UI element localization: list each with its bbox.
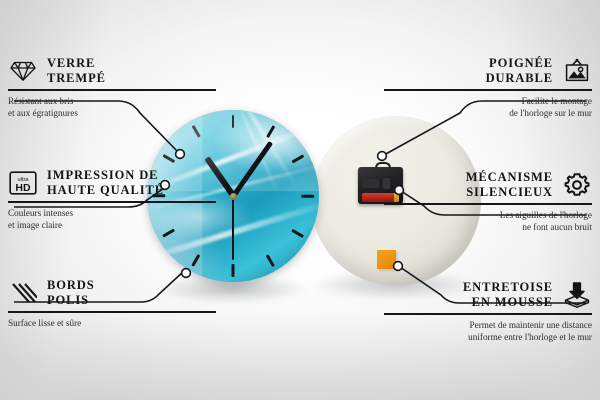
callout-title-line1: ENTRETOISE [463, 280, 553, 295]
callout-title: POIGNÉE DURABLE [486, 56, 553, 86]
callout-desc-line1: Résistant aux bris [8, 95, 216, 108]
callout-description: Permet de maintenir une distance uniform… [384, 319, 592, 344]
callout-title-line2: DURABLE [486, 71, 553, 86]
ultra-hd-icon: ultra HD [8, 168, 38, 198]
callout-description: Les aiguilles de l'horloge ne font aucun… [384, 209, 592, 234]
foam-spacer-icon [562, 280, 592, 310]
diamond-icon [8, 56, 38, 86]
callout-entretoise-en-mousse[interactable]: ENTRETOISE EN MOUSSE Permet de maintenir… [384, 280, 592, 344]
callout-description: Résistant aux bris et aux égratignures [8, 95, 216, 120]
callout-title: MÉCANISME SILENCIEUX [466, 170, 553, 200]
infographic-scene: VERRE TREMPÉ Résistant aux bris et aux é… [0, 0, 600, 400]
callout-title-line1: IMPRESSION DE [47, 168, 164, 183]
callout-header: VERRE TREMPÉ [8, 56, 216, 86]
callout-desc-line1: Les aiguilles de l'horloge [384, 209, 592, 222]
callout-title-line1: BORDS [47, 278, 95, 293]
callout-desc-line2: de l'horloge sur le mur [384, 107, 592, 120]
callout-description: Facilite le montage de l'horloge sur le … [384, 95, 592, 120]
callout-description: Couleurs intenses et image claire [8, 207, 216, 232]
picture-hanger-icon [562, 56, 592, 86]
callout-desc-line1: Facilite le montage [384, 95, 592, 108]
callout-title-line1: POIGNÉE [486, 56, 553, 71]
callout-bords-polis[interactable]: BORDS POLIS Surface lisse et sûre [8, 278, 216, 329]
mechanism-detail-left [363, 179, 379, 188]
svg-text:HD: HD [15, 182, 31, 194]
foam-spacer [377, 250, 396, 269]
callout-header: POIGNÉE DURABLE [384, 56, 592, 86]
callout-title-line2: TREMPÉ [47, 71, 106, 86]
callout-title: IMPRESSION DE HAUTE QUALITÉ [47, 168, 164, 198]
callout-description: Surface lisse et sûre [8, 317, 216, 330]
callout-divider [384, 203, 592, 205]
callout-title-line2: POLIS [47, 293, 95, 308]
callout-poignee-durable[interactable]: POIGNÉE DURABLE Facilite le montage de l… [384, 56, 592, 120]
callout-mecanisme-silencieux[interactable]: MÉCANISME SILENCIEUX Les aiguilles de l'… [384, 170, 592, 234]
callout-title-line2: SILENCIEUX [466, 185, 553, 200]
callout-desc-line1: Surface lisse et sûre [8, 317, 216, 330]
callout-divider [8, 201, 216, 203]
callout-divider [384, 89, 592, 91]
callout-title-line1: MÉCANISME [466, 170, 553, 185]
callout-title: ENTRETOISE EN MOUSSE [463, 280, 553, 310]
callout-title: VERRE TREMPÉ [47, 56, 106, 86]
callout-desc-line1: Permet de maintenir une distance [384, 319, 592, 332]
callout-header: BORDS POLIS [8, 278, 216, 308]
polished-edges-icon [8, 278, 38, 308]
callout-title-line1: VERRE [47, 56, 106, 71]
callout-verre-trempe[interactable]: VERRE TREMPÉ Résistant aux bris et aux é… [8, 56, 216, 120]
callout-title: BORDS POLIS [47, 278, 95, 308]
callout-desc-line2: et image claire [8, 219, 216, 232]
callout-divider [8, 89, 216, 91]
callout-divider [8, 311, 216, 313]
gear-icon [562, 170, 592, 200]
callout-title-line2: EN MOUSSE [463, 295, 553, 310]
callout-divider [384, 313, 592, 315]
callout-impression-haute-qualite[interactable]: ultra HD IMPRESSION DE HAUTE QUALITÉ Cou… [8, 168, 216, 232]
callout-header: MÉCANISME SILENCIEUX [384, 170, 592, 200]
callout-title-line2: HAUTE QUALITÉ [47, 183, 164, 198]
callout-desc-line2: ne font aucun bruit [384, 221, 592, 234]
callout-header: ultra HD IMPRESSION DE HAUTE QUALITÉ [8, 168, 216, 198]
callout-header: ENTRETOISE EN MOUSSE [384, 280, 592, 310]
callout-desc-line1: Couleurs intenses [8, 207, 216, 220]
callout-desc-line2: et aux égratignures [8, 107, 216, 120]
callout-desc-line2: uniforme entre l'horloge et le mur [384, 331, 592, 344]
